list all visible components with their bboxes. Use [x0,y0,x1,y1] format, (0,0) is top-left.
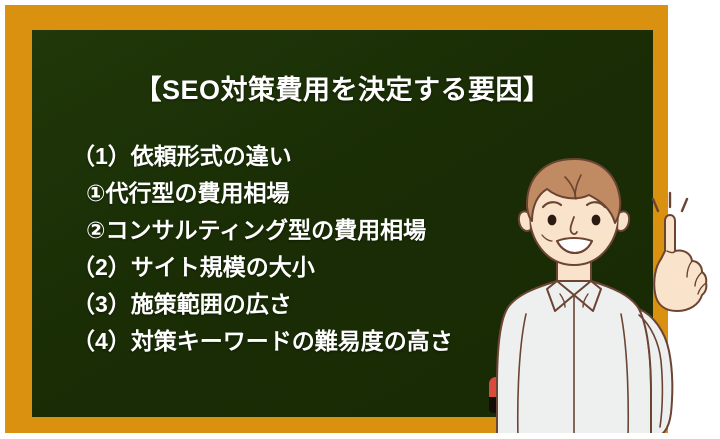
bottom-white-strip [0,433,720,439]
character-illustration [485,155,720,439]
slide-canvas: 【SEO対策費用を決定する要因】 （1）依頼形式の違い ①代行型の費用相場 ②コ… [0,0,720,439]
board-title: 【SEO対策費用を決定する要因】 [32,68,653,107]
